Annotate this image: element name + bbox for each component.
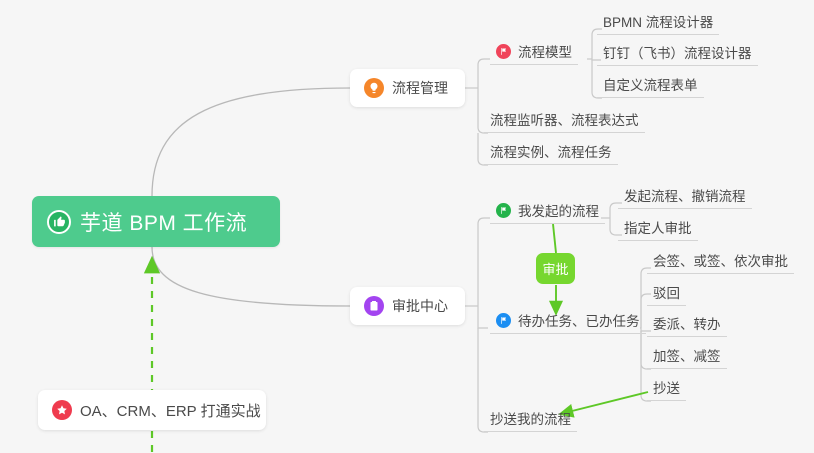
lightbulb-icon <box>364 78 384 98</box>
node-delegate-transfer[interactable]: 委派、转办 <box>647 313 727 337</box>
node-label: 委派、转办 <box>653 313 721 333</box>
node-label: 自定义流程表单 <box>603 74 698 94</box>
node-label: 流程监听器、流程表达式 <box>490 109 639 129</box>
flag-icon <box>496 203 511 218</box>
root-node[interactable]: 芋道 BPM 工作流 <box>32 196 280 247</box>
branch-process-management[interactable]: 流程管理 <box>350 69 465 107</box>
branch-label: 流程管理 <box>392 78 448 98</box>
node-countersign[interactable]: 会签、或签、依次审批 <box>647 250 794 274</box>
node-label: 发起流程、撤销流程 <box>624 185 746 205</box>
node-label: 流程实例、流程任务 <box>490 141 612 161</box>
branch-label: 审批中心 <box>392 296 448 316</box>
node-dingtalk-designer[interactable]: 钉钉（飞书）流程设计器 <box>597 42 758 66</box>
node-carbon-copy[interactable]: 抄送 <box>647 377 686 401</box>
clipboard-icon <box>364 296 384 316</box>
badge-label: 审批 <box>542 259 568 278</box>
node-process-model[interactable]: 流程模型 <box>490 41 578 65</box>
flag-icon <box>496 313 511 328</box>
node-label: 我发起的流程 <box>518 200 599 220</box>
node-label: 驳回 <box>653 282 680 302</box>
node-todo-done-task[interactable]: 待办任务、已办任务 <box>490 310 646 334</box>
node-label: 流程模型 <box>518 41 572 61</box>
branch-approval-center[interactable]: 审批中心 <box>350 287 465 325</box>
star-icon <box>52 400 72 420</box>
node-label: 抄送我的流程 <box>490 408 571 428</box>
node-label: 待办任务、已办任务 <box>518 310 640 330</box>
node-start-cancel[interactable]: 发起流程、撤销流程 <box>618 185 752 209</box>
node-custom-form[interactable]: 自定义流程表单 <box>597 74 704 98</box>
node-label: OA、CRM、ERP 打通实战 <box>80 400 261 421</box>
node-label: 抄送 <box>653 377 680 397</box>
node-add-remove-sign[interactable]: 加签、减签 <box>647 345 727 369</box>
node-reject[interactable]: 驳回 <box>647 282 686 306</box>
mindmap-canvas: 芋道 BPM 工作流 流程管理 流程模型 BPMN 流程设计器 钉钉（飞书）流程… <box>0 0 814 453</box>
node-cc-to-me[interactable]: 抄送我的流程 <box>484 408 577 432</box>
node-integration-practice[interactable]: OA、CRM、ERP 打通实战 <box>38 390 266 430</box>
node-label: 指定人审批 <box>624 217 692 237</box>
node-label: 加签、减签 <box>653 345 721 365</box>
thumbs-up-icon <box>47 210 71 234</box>
node-bpmn-designer[interactable]: BPMN 流程设计器 <box>597 11 719 35</box>
node-label: 钉钉（飞书）流程设计器 <box>603 42 752 62</box>
node-listener-expression[interactable]: 流程监听器、流程表达式 <box>484 109 645 133</box>
node-label: BPMN 流程设计器 <box>603 11 713 31</box>
node-instance-task[interactable]: 流程实例、流程任务 <box>484 141 618 165</box>
root-label: 芋道 BPM 工作流 <box>80 207 247 237</box>
node-assignee-approval[interactable]: 指定人审批 <box>618 217 698 241</box>
flag-icon <box>496 44 511 59</box>
node-my-started-process[interactable]: 我发起的流程 <box>490 200 605 224</box>
approval-badge[interactable]: 审批 <box>536 253 575 284</box>
node-label: 会签、或签、依次审批 <box>653 250 788 270</box>
